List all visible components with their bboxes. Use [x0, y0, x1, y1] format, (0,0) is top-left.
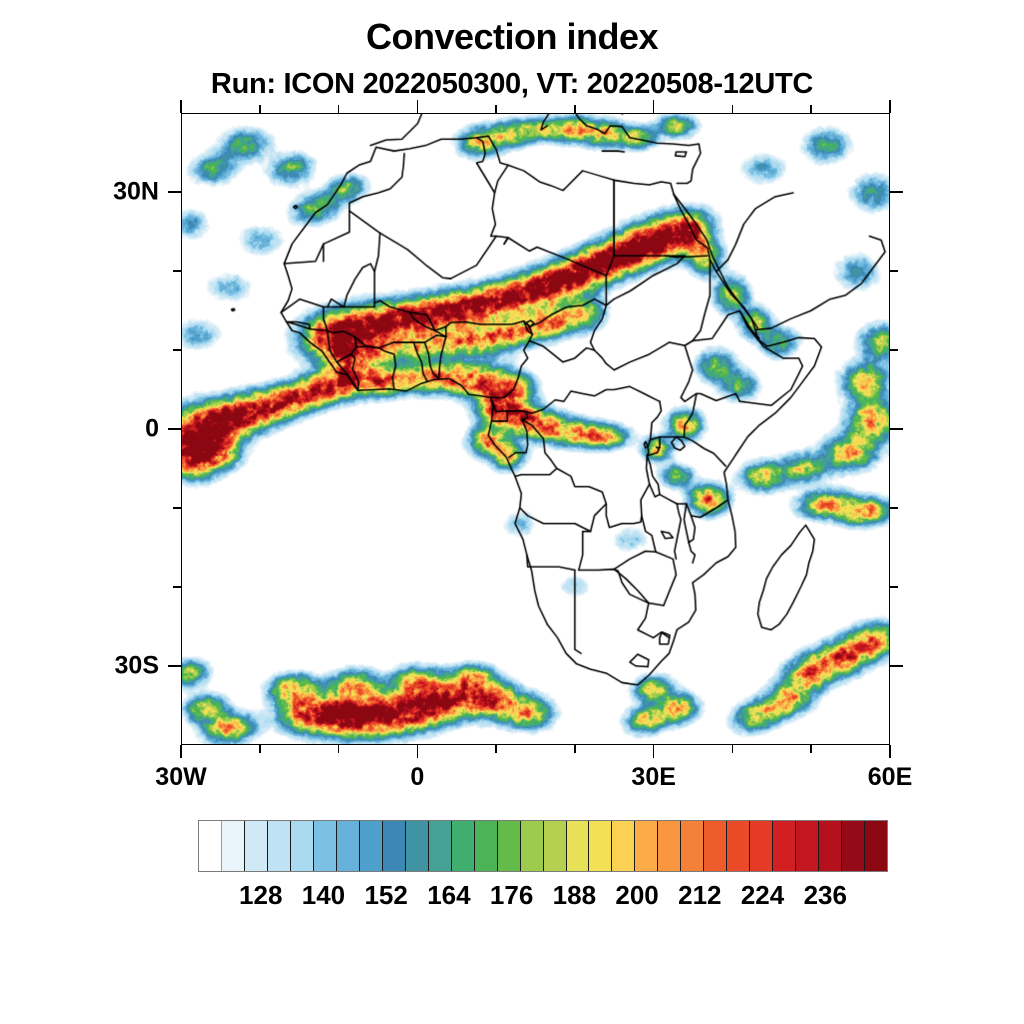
x-axis-tick [889, 745, 891, 758]
y-axis-tick-right [890, 349, 898, 351]
x-axis-tick [574, 745, 576, 753]
colorbar-cell [314, 821, 337, 871]
colorbar-tick-label: 188 [553, 882, 596, 908]
colorbar-tick-label: 164 [427, 882, 470, 908]
x-axis-tick-top [338, 105, 340, 113]
colorbar-cell [750, 821, 773, 871]
colorbar-cell [406, 821, 429, 871]
colorbar-cell [819, 821, 842, 871]
y-axis-tick-right [890, 586, 898, 588]
y-axis-tick [173, 507, 181, 509]
colorbar-cell [245, 821, 268, 871]
y-axis-tick-right [890, 270, 898, 272]
colorbar-cell [658, 821, 681, 871]
colorbar-cell [268, 821, 291, 871]
x-axis-tick [417, 745, 419, 758]
y-axis-label: 0 [81, 417, 159, 442]
x-axis-tick [732, 745, 734, 753]
colorbar-tick-label: 152 [364, 882, 407, 908]
map-plot-area[interactable] [181, 113, 890, 745]
x-axis-tick [653, 745, 655, 758]
x-axis-tick-top [574, 105, 576, 113]
y-axis-tick [168, 428, 181, 430]
colorbar-cell [681, 821, 704, 871]
x-axis-label: 60E [868, 765, 912, 790]
x-axis-label: 30E [631, 765, 675, 790]
colorbar-cell [567, 821, 590, 871]
y-axis-tick [173, 270, 181, 272]
y-axis-tick-right [890, 507, 898, 509]
colorbar-tick-label: 176 [490, 882, 533, 908]
colorbar-tick-label: 224 [741, 882, 784, 908]
y-axis-label: 30N [81, 180, 159, 205]
colorbar-gradient [198, 820, 888, 872]
colorbar-cell [498, 821, 521, 871]
x-axis-label: 30W [155, 765, 206, 790]
colorbar-cell [773, 821, 796, 871]
colorbar-cell [337, 821, 360, 871]
colorbar-cell [635, 821, 658, 871]
y-axis-tick [168, 665, 181, 667]
x-axis-label: 0 [410, 765, 424, 790]
colorbar-tick-label: 128 [239, 882, 282, 908]
colorbar-cell [842, 821, 865, 871]
colorbar-cell [544, 821, 567, 871]
colorbar-cell [199, 821, 222, 871]
colorbar-tick-label: 200 [615, 882, 658, 908]
y-axis-tick [168, 191, 181, 193]
x-axis-tick-top [259, 105, 261, 113]
colorbar-cell [429, 821, 452, 871]
x-axis-tick [259, 745, 261, 753]
colorbar-cell [727, 821, 750, 871]
x-axis-tick-top [732, 105, 734, 113]
x-axis-tick [495, 745, 497, 753]
y-axis-label: 30S [81, 654, 159, 679]
x-axis-tick-top [889, 100, 891, 113]
x-axis-tick [810, 745, 812, 753]
y-axis-tick-right [890, 191, 903, 193]
x-axis-tick [180, 745, 182, 758]
colorbar[interactable] [198, 820, 888, 872]
x-axis-tick-top [180, 100, 182, 113]
convection-index-heatmap [182, 114, 889, 744]
y-axis-tick-right [890, 665, 903, 667]
y-axis-tick [173, 586, 181, 588]
colorbar-cell [796, 821, 819, 871]
colorbar-cell [475, 821, 498, 871]
colorbar-cell [291, 821, 314, 871]
colorbar-cell [383, 821, 406, 871]
colorbar-tick-label: 212 [678, 882, 721, 908]
colorbar-cell [521, 821, 544, 871]
colorbar-cell [612, 821, 635, 871]
x-axis-tick-top [417, 100, 419, 113]
colorbar-cell [704, 821, 727, 871]
y-axis-tick-right [890, 428, 903, 430]
y-axis-tick [173, 349, 181, 351]
colorbar-tick-label: 236 [804, 882, 847, 908]
colorbar-cell [452, 821, 475, 871]
x-axis-tick-top [810, 105, 812, 113]
figure-subtitle: Run: ICON 2022050300, VT: 20220508-12UTC [0, 66, 1024, 102]
colorbar-cell [865, 821, 887, 871]
colorbar-cell [222, 821, 245, 871]
page-title: Convection index [0, 16, 1024, 58]
colorbar-tick-label: 140 [302, 882, 345, 908]
colorbar-cell [360, 821, 383, 871]
colorbar-cell [589, 821, 612, 871]
x-axis-tick-top [653, 100, 655, 113]
x-axis-tick-top [495, 105, 497, 113]
x-axis-tick [338, 745, 340, 753]
